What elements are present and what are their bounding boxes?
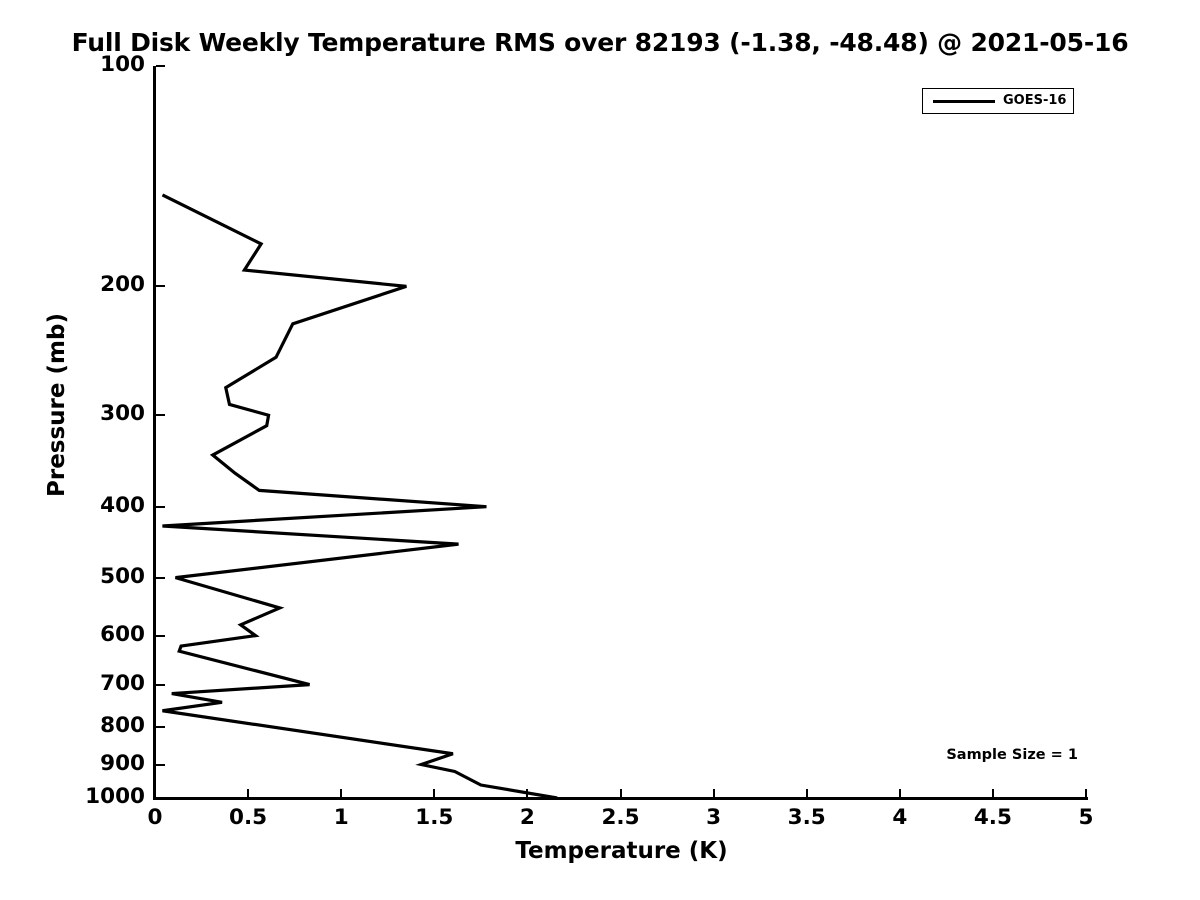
x-axis-spine xyxy=(155,797,1088,800)
x-tick-2.5 xyxy=(620,789,622,798)
y-tick-300 xyxy=(156,414,165,416)
y-tick-label-200: 200 xyxy=(5,272,145,297)
x-axis-label: Temperature (K) xyxy=(155,838,1088,864)
y-tick-label-100: 100 xyxy=(5,52,145,77)
y-axis-label: Pressure (mb) xyxy=(44,337,70,497)
x-tick-3.5 xyxy=(806,789,808,798)
y-tick-label-500: 500 xyxy=(5,564,145,589)
y-tick-100 xyxy=(156,65,165,67)
x-tick-5 xyxy=(1085,789,1087,798)
sample-size-annotation: Sample Size = 1 xyxy=(946,747,1078,763)
x-tick-3 xyxy=(713,789,715,798)
page-title: Full Disk Weekly Temperature RMS over 82… xyxy=(0,28,1200,57)
y-tick-200 xyxy=(156,285,165,287)
x-tick-label-5: 5 xyxy=(1026,805,1146,830)
y-tick-label-600: 600 xyxy=(5,622,145,647)
legend-label-goes-16: GOES-16 xyxy=(1003,93,1066,108)
y-tick-500 xyxy=(156,577,165,579)
y-tick-400 xyxy=(156,506,165,508)
legend-swatch-goes-16 xyxy=(933,100,995,103)
y-tick-800 xyxy=(156,726,165,728)
data-line-svg xyxy=(155,66,1086,798)
y-tick-700 xyxy=(156,684,165,686)
y-tick-1000 xyxy=(156,797,165,799)
chart-figure: Full Disk Weekly Temperature RMS over 82… xyxy=(0,0,1200,900)
x-tick-2 xyxy=(526,789,528,798)
y-tick-600 xyxy=(156,635,165,637)
x-tick-1 xyxy=(340,789,342,798)
plot-area xyxy=(155,66,1086,798)
x-tick-4.5 xyxy=(992,789,994,798)
x-tick-0 xyxy=(154,789,156,798)
y-tick-label-900: 900 xyxy=(5,751,145,776)
x-tick-0.5 xyxy=(247,789,249,798)
legend[interactable]: GOES-16 xyxy=(922,88,1074,114)
y-tick-label-300: 300 xyxy=(5,401,145,426)
data-series-goes-16 xyxy=(162,195,557,798)
y-axis-spine xyxy=(153,66,156,800)
y-tick-label-700: 700 xyxy=(5,671,145,696)
y-tick-900 xyxy=(156,764,165,766)
y-tick-label-400: 400 xyxy=(5,493,145,518)
x-tick-1.5 xyxy=(433,789,435,798)
y-tick-label-800: 800 xyxy=(5,713,145,738)
x-tick-4 xyxy=(899,789,901,798)
